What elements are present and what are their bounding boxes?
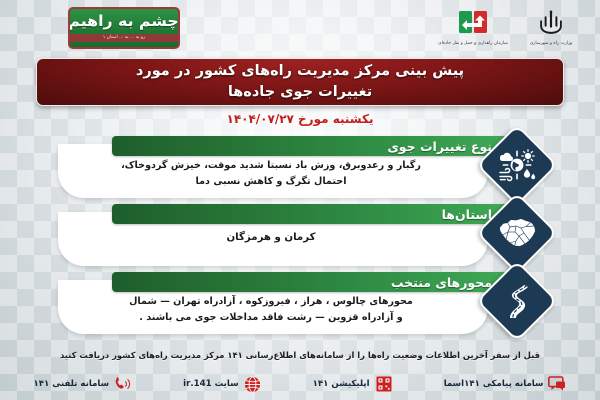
phone-icon [114,375,132,393]
iran-map-icon [495,213,539,253]
section-heading-bar: محورهای منتخب [112,272,506,292]
sms-icon [548,375,566,393]
main-title-line1: پیش بینی مرکز مدیریت راه‌های کشور در مور… [136,61,464,82]
winding-road-icon [497,281,537,321]
footer-advisory-note: قبل از سفر آخرین اطلاعات وضعیت راه‌ها را… [0,350,600,360]
ministry-of-roads-caption: وزارت راه و شهرسازی [530,41,572,47]
section-selected-routes: محورهای منتخب محورهای چالوس ، هراز ، فیر… [58,272,540,334]
ministry-of-roads-emblem-block: وزارت راه و شهرسازی [520,8,582,47]
section-body: محورهای چالوس ، هراز ، فیروزکوه ، آزادرا… [62,294,480,326]
road-maintenance-org-emblem [458,8,488,38]
globe-icon [244,375,262,393]
road-maintenance-org-emblem-block: سازمان راهداری و حمل و نقل جاده‌ای [442,8,504,47]
section-body-line2: احتمال تگرگ و کاهش نسبی دما [62,174,480,190]
contact-item-sms[interactable]: سامانه پیامکی ۱۴۱اسما [444,375,567,393]
road-maintenance-org-caption: سازمان راهداری و حمل و نقل جاده‌ای [438,41,508,47]
section-body: رگبار و رعدوبرق، وزش باد نسبتا شدید موقت… [62,158,480,190]
section-heading-label: استان‌ها [442,207,492,222]
report-date: یکشنبه مورخ ۱۴۰۴/۰۷/۲۷ [0,112,600,126]
header: چشم به راهیم رو به ... یه ... استان ۱ [0,0,600,58]
qr-app-icon [375,375,393,393]
contact-label-app: اپلیکیشن ۱۴۱ [313,379,370,389]
contact-bar: سامانه پیامکی ۱۴۱اسما [0,371,600,397]
main-title: پیش بینی مرکز مدیریت راه‌های کشور در مور… [126,61,474,103]
section-weather-type: نوع تغییرات جوی رگبار و رعدوبرق، وزش باد… [58,136,540,198]
contact-label-phone: سامانه تلفنی ۱۴۱ [34,379,110,389]
section-body: کرمان و هرمزگان [62,226,480,247]
weather-icon [495,145,539,185]
section-heading-label: نوع تغییرات جوی [387,139,492,154]
infographic-page: چشم به راهیم رو به ... یه ... استان ۱ [0,0,600,400]
header-emblems: وزارت راه و شهرسازی سازمان راهداری و حمل… [442,8,582,47]
section-provinces: استان‌ها کرمان و هرمزگان [58,204,540,266]
section-body-line1: کرمان و هرمزگان [62,230,480,247]
contact-item-app[interactable]: اپلیکیشن ۱۴۱ [313,375,393,393]
logo-left-text: چشم به راهیم [69,14,179,29]
contact-item-phone[interactable]: سامانه تلفنی ۱۴۱ [34,375,133,393]
section-body-line2: و آزادراه قزوین — رشت فاقد مداخلات جوی م… [62,310,480,326]
section-heading-bar: استان‌ها [112,204,506,224]
cheshm-be-rah-logo: چشم به راهیم رو به ... یه ... استان ۱ [68,7,180,49]
section-body-line1: محورهای چالوس ، هراز ، فیروزکوه ، آزادرا… [62,294,480,310]
section-heading-bar: نوع تغییرات جوی [112,136,506,156]
main-title-banner: پیش بینی مرکز مدیریت راه‌های کشور در مور… [36,58,564,106]
section-heading-label: محورهای منتخب [391,275,492,290]
contact-item-website[interactable]: سایت 141.ir [183,375,261,393]
main-title-line2: تغییرات جوی جاده‌ها [136,82,464,103]
section-body-line1: رگبار و رعدوبرق، وزش باد نسبتا شدید موقت… [62,158,480,174]
contact-label-website: سایت 141.ir [183,379,238,389]
ministry-of-roads-emblem [538,8,564,38]
logo-left-subtext: رو به ... یه ... استان ۱ [70,34,178,41]
contact-label-sms: سامانه پیامکی ۱۴۱اسما [444,379,544,389]
